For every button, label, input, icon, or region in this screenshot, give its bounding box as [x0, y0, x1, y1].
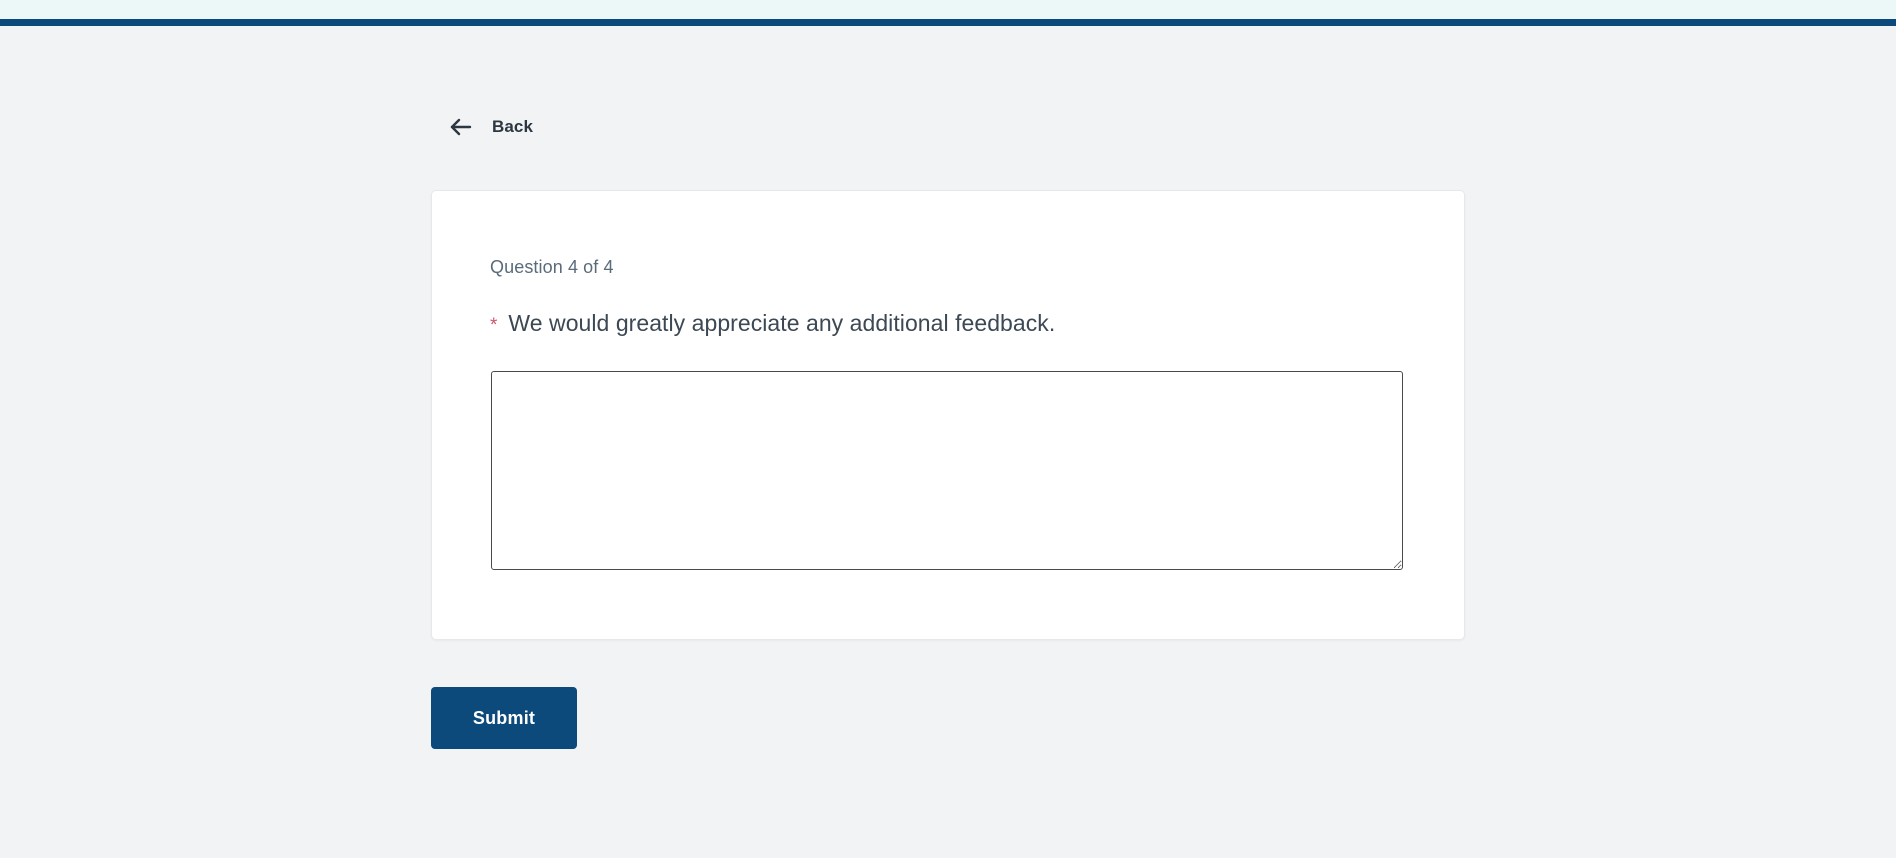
question-counter: Question 4 of 4: [490, 257, 614, 278]
required-asterisk: *: [490, 316, 497, 335]
question-text: We would greatly appreciate any addition…: [508, 310, 1055, 337]
question-row: * We would greatly appreciate any additi…: [490, 310, 1055, 337]
back-label: Back: [492, 117, 533, 137]
arrow-left-icon: [448, 114, 474, 140]
top-accent-band: [0, 0, 1896, 19]
submit-button[interactable]: Submit: [431, 687, 577, 749]
back-link[interactable]: Back: [448, 114, 533, 140]
top-navy-bar: [0, 19, 1896, 26]
feedback-textarea[interactable]: [491, 371, 1403, 570]
